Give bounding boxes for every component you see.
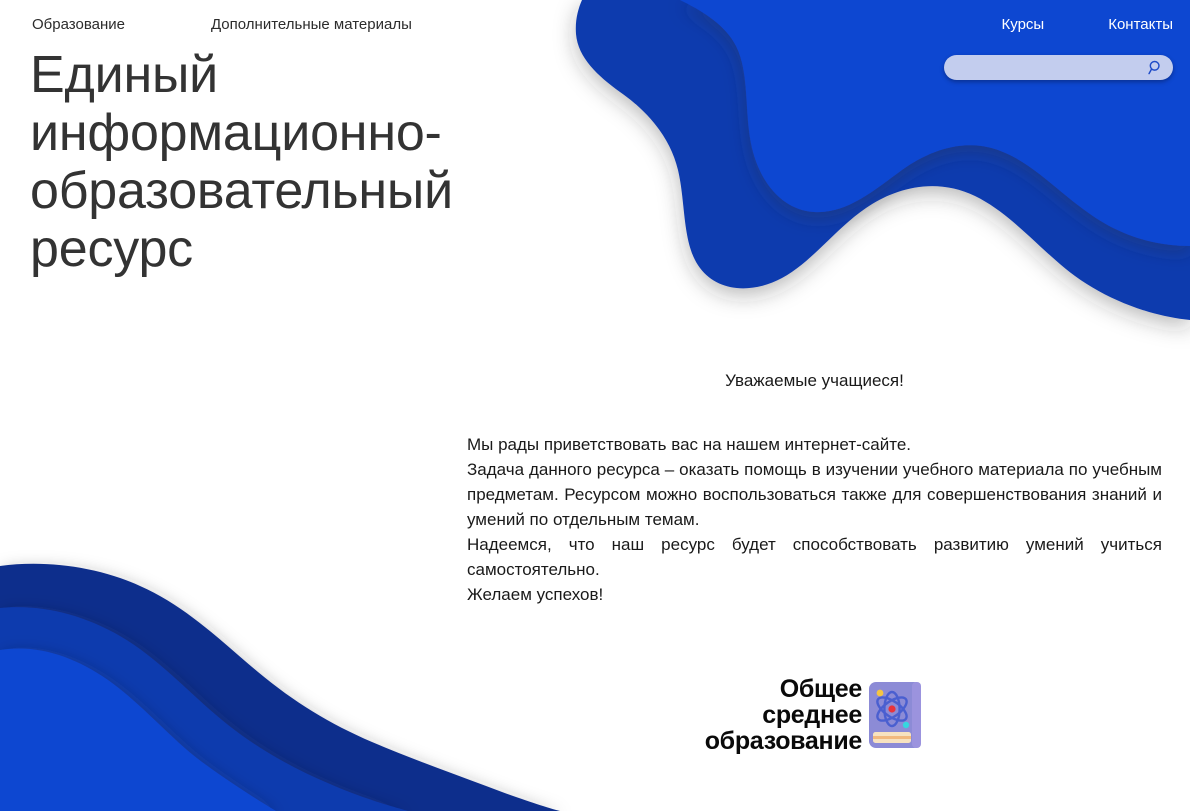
search-input[interactable] [944,55,1173,80]
nav-right-group: Курсы Контакты [1002,16,1174,34]
content-paragraph: Надеемся, что наш ресурс будет способств… [467,532,1162,582]
search-icon[interactable] [1147,59,1164,76]
content-paragraph: Мы рады приветствовать вас на нашем инте… [467,432,1162,457]
logo[interactable]: Общее среднее образование [664,674,922,756]
logo-line-1: Общее [780,676,862,702]
nav-left-group: Образование Дополнительные материалы [32,16,412,34]
content-paragraph: Задача данного ресурса – оказать помощь … [467,457,1162,532]
nav-link-additional-materials[interactable]: Дополнительные материалы [211,16,412,34]
page-root: Образование Дополнительные материалы Кур… [0,0,1190,811]
content-greeting: Уважаемые учащиеся! [467,370,1162,392]
wave-bottom-mid [0,607,408,811]
logo-text: Общее среднее образование [705,676,862,754]
logo-line-3: образование [705,728,862,754]
content-paragraph: Желаем успехов! [467,582,1162,607]
nav-link-contacts[interactable]: Контакты [1108,16,1173,34]
wave-bottom-bright [0,648,276,811]
nav-link-courses[interactable]: Курсы [1002,16,1045,34]
nav-link-education[interactable]: Образование [32,16,125,34]
welcome-content: Уважаемые учащиеся! Мы рады приветствова… [467,370,1162,607]
content-body: Мы рады приветствовать вас на нашем инте… [467,432,1162,607]
logo-line-2: среднее [762,702,862,728]
book-atom-icon [868,681,922,749]
search-container [944,55,1173,80]
top-navigation: Образование Дополнительные материалы Кур… [0,0,1190,95]
